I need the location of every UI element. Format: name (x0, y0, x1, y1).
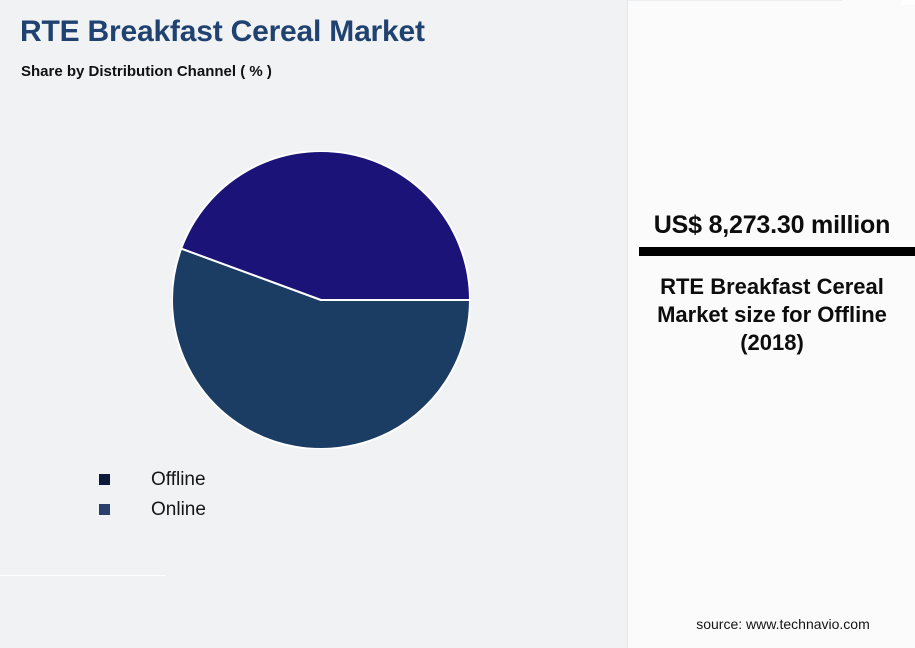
source-attribution: source: www.technavio.com (628, 616, 915, 632)
legend-swatch-online (99, 504, 110, 515)
market-value: US$ 8,273.30 million (628, 211, 915, 240)
chart-legend: Offline Online (99, 464, 399, 524)
legend-item-offline[interactable]: Offline (99, 464, 399, 494)
pie-chart-svg (172, 151, 470, 449)
chart-subtitle: Share by Distribution Channel ( % ) (21, 63, 272, 80)
legend-item-online[interactable]: Online (99, 494, 399, 524)
panel-corner-notch (901, 0, 915, 5)
legend-label-offline: Offline (151, 470, 206, 489)
page-title: RTE Breakfast Cereal Market (20, 15, 425, 49)
market-value-description: RTE Breakfast Cereal Market size for Off… (642, 273, 902, 357)
legend-swatch-offline (99, 474, 110, 485)
chart-panel: RTE Breakfast Cereal Market Share by Dis… (0, 0, 627, 648)
market-value-block: US$ 8,273.30 million RTE Breakfast Cerea… (628, 211, 915, 240)
legend-label-online: Online (151, 500, 206, 519)
chart-canvas: RTE Breakfast Cereal Market Share by Dis… (0, 0, 915, 648)
value-underline-bar (639, 247, 915, 256)
pie-chart (172, 151, 470, 449)
info-panel: US$ 8,273.30 million RTE Breakfast Cerea… (627, 0, 915, 648)
footer-divider (0, 575, 166, 576)
panel-top-divider (628, 0, 842, 1)
